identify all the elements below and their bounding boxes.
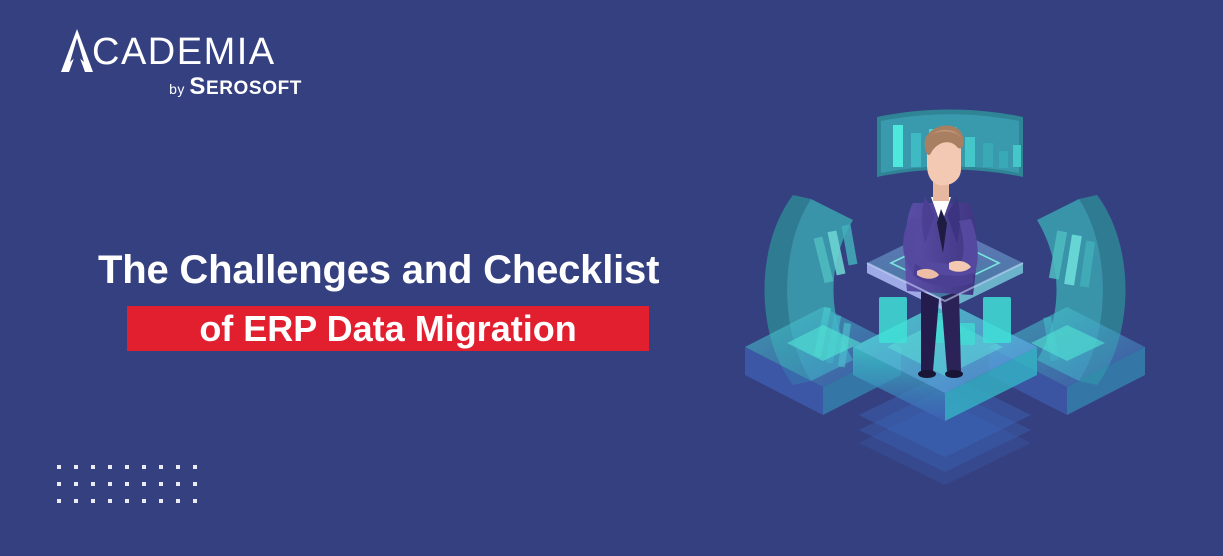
grid-dot (57, 465, 61, 469)
logo-brand-cap: S (189, 73, 206, 100)
grid-dot (176, 482, 180, 486)
grid-dot (176, 465, 180, 469)
page-title: The Challenges and Checklist (98, 248, 659, 293)
grid-dot (159, 499, 163, 503)
grid-dot (108, 499, 112, 503)
dot-grid-decoration (57, 465, 197, 507)
grid-dot (159, 465, 163, 469)
grid-dot (176, 499, 180, 503)
grid-dot (74, 499, 78, 503)
grid-dot (125, 465, 129, 469)
grid-dot (125, 499, 129, 503)
promo-banner: CADEMIA by SEROSOFT The Challenges and C… (0, 0, 1223, 556)
grid-dot (91, 499, 95, 503)
logo-tagline: by SEROSOFT (169, 73, 302, 101)
grid-dot (125, 482, 129, 486)
page-subtitle: of ERP Data Migration (127, 306, 649, 351)
brand-logo[interactable]: CADEMIA by SEROSOFT (60, 28, 310, 98)
logo-brand-name: SEROSOFT (189, 78, 302, 99)
academia-chevron-mark-icon (60, 28, 94, 79)
logo-wordmark: CADEMIA (92, 30, 276, 74)
logo-by-label: by (169, 81, 185, 97)
grid-dot (142, 499, 146, 503)
grid-dot (74, 465, 78, 469)
hero-illustration (735, 85, 1155, 485)
grid-dot (57, 482, 61, 486)
grid-dot (108, 465, 112, 469)
grid-dot (74, 482, 78, 486)
grid-dot (142, 465, 146, 469)
grid-dot (193, 482, 197, 486)
logo-brand-rest: EROSOFT (206, 78, 302, 99)
grid-dot (108, 482, 112, 486)
grid-dot (193, 499, 197, 503)
grid-dot (57, 499, 61, 503)
subtitle-highlight-band: of ERP Data Migration (127, 306, 649, 351)
grid-dot (91, 465, 95, 469)
grid-dot (142, 482, 146, 486)
grid-dot (159, 482, 163, 486)
grid-dot (91, 482, 95, 486)
grid-dot (193, 465, 197, 469)
